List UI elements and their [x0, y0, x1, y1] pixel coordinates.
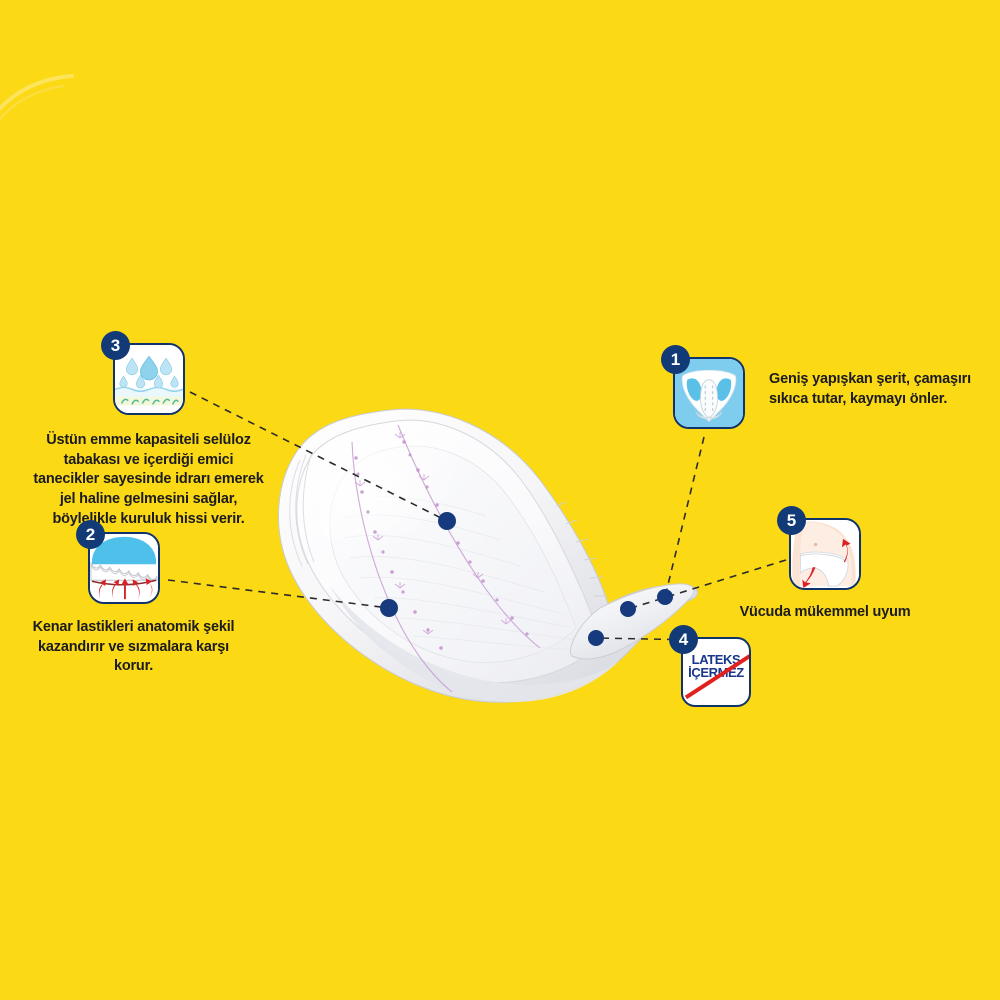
diagram-canvas: 3 Üstün emme kapasiteli selüloz tabakası…: [0, 0, 1000, 1000]
callout-1-number: 1: [661, 345, 690, 374]
callout-3-text: Üstün emme kapasiteli selüloz tabakası v…: [31, 431, 266, 530]
connector-1: [665, 437, 704, 597]
connector-dots: [380, 512, 673, 646]
callout-5[interactable]: 5 Vücuda mükemmel uyum: [789, 518, 915, 623]
callout-5-text: Vücuda mükemmel uyum: [735, 603, 915, 623]
connector-dot: [620, 601, 636, 617]
connector-dot: [588, 630, 604, 646]
connector-5: [628, 560, 786, 609]
callout-5-number: 5: [777, 506, 806, 535]
callout-4[interactable]: LATEKS İÇERMEZ 4: [681, 637, 751, 707]
callout-2-text: Kenar lastikleri anatomik şekil kazandır…: [26, 618, 241, 677]
connector-dot: [657, 589, 673, 605]
connector-dot: [380, 599, 398, 617]
callout-2-number: 2: [76, 520, 105, 549]
callout-1[interactable]: 1 Geniş yapışkan şerit, çamaşırı sıkıca …: [673, 357, 745, 429]
callout-3[interactable]: 3 Üstün emme kapasiteli selüloz tabakası…: [113, 343, 266, 530]
callout-1-text: Geniş yapışkan şerit, çamaşırı sıkıca tu…: [769, 370, 999, 409]
callout-3-number: 3: [101, 331, 130, 360]
callout-4-number: 4: [669, 625, 698, 654]
connector-dot: [438, 512, 456, 530]
callout-2[interactable]: 2 Kenar lastikleri anatomik şekil kazand…: [88, 532, 241, 677]
